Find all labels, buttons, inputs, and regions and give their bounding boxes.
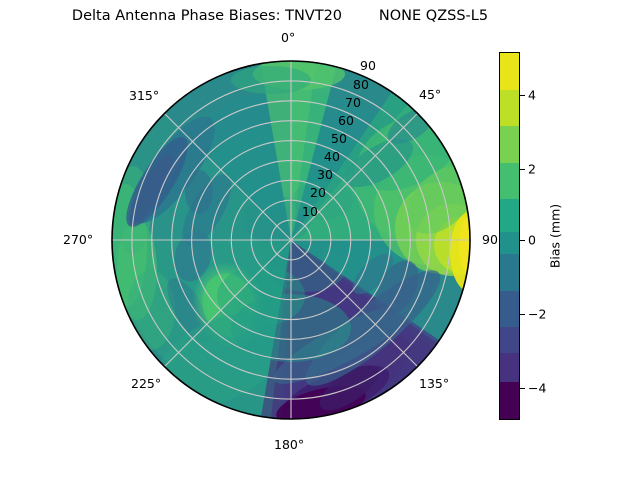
- radial-label-6: 70: [345, 96, 361, 110]
- colorbar-band-2: [500, 126, 519, 163]
- azimuth-label-4: 180°: [274, 438, 304, 452]
- colorbar-band-8: [500, 327, 519, 353]
- azimuth-label-0: 0°: [281, 31, 295, 45]
- colorbar-band-10: [500, 382, 519, 419]
- colorbar-tick-mark-0: [520, 95, 525, 96]
- colorbar-tick-label-3: −2: [528, 308, 546, 321]
- azimuth-label-3: 135°: [419, 377, 449, 391]
- radial-label-3: 40: [324, 150, 340, 164]
- radial-label-5: 60: [338, 114, 354, 128]
- colorbar-band-7: [500, 291, 519, 328]
- polar-grid-spokes: [112, 61, 470, 419]
- colorbar-tick-label-2: 0: [528, 234, 536, 247]
- radial-label-8: 90: [360, 59, 376, 73]
- colorbar-band-1: [500, 90, 519, 127]
- colorbar-tick-mark-2: [520, 240, 525, 241]
- radial-label-1: 20: [310, 186, 326, 200]
- colorbar[interactable]: 420−2−4 Bias (mm): [499, 52, 619, 432]
- colorbar-band-3: [500, 163, 519, 200]
- radial-label-0: 10: [302, 205, 318, 219]
- azimuth-label-5: 225°: [131, 377, 161, 391]
- colorbar-band-5: [500, 232, 519, 254]
- azimuth-label-6: 270°: [63, 233, 93, 247]
- colorbar-band-9: [500, 353, 519, 382]
- radial-label-2: 30: [317, 168, 333, 182]
- polar-contour-svg: [111, 60, 471, 420]
- page-title: Delta Antenna Phase Biases: TNVT20 NONE …: [0, 6, 560, 26]
- azimuth-label-7: 315°: [129, 89, 159, 103]
- azimuth-label-1: 45°: [419, 88, 441, 102]
- radial-label-4: 50: [331, 132, 347, 146]
- colorbar-band-4: [500, 199, 519, 232]
- colorbar-tick-label-0: 4: [528, 89, 536, 102]
- radial-label-7: 80: [353, 78, 369, 92]
- colorbar-tick-label-4: −4: [528, 382, 546, 395]
- colorbar-gradient[interactable]: [499, 52, 520, 420]
- polar-contour-figure: Delta Antenna Phase Biases: TNVT20 NONE …: [0, 0, 640, 480]
- colorbar-tick-label-1: 2: [528, 163, 536, 176]
- polar-plot-area[interactable]: [111, 60, 471, 420]
- colorbar-tick-mark-3: [520, 314, 525, 315]
- colorbar-axis-label: Bias (mm): [548, 204, 563, 268]
- colorbar-band-0: [500, 53, 519, 90]
- colorbar-tick-mark-1: [520, 169, 525, 170]
- colorbar-band-6: [500, 254, 519, 291]
- colorbar-tick-mark-4: [520, 388, 525, 389]
